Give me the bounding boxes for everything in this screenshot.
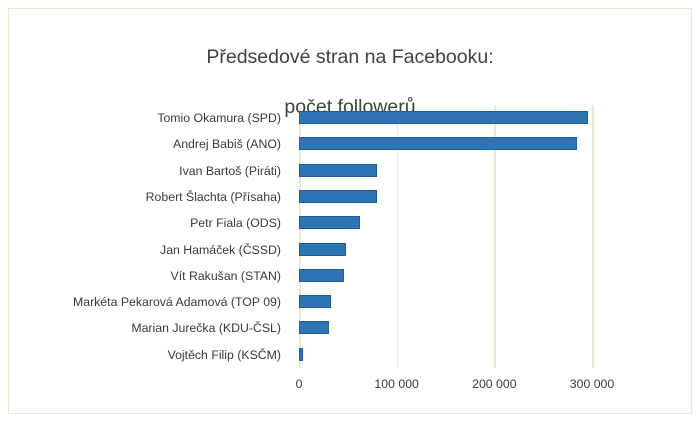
bar-row [299, 210, 592, 236]
x-tick-label: 0 [296, 377, 303, 391]
bar[interactable] [299, 216, 360, 229]
x-tick-label: 200 000 [472, 377, 516, 391]
bar-row [299, 184, 592, 210]
category-label: Marian Jurečka (KDU-ČSL) [0, 315, 290, 341]
chart-title-line-1: Předsedové stran na Facebooku: [206, 46, 493, 68]
bar-row [299, 315, 592, 341]
category-label: Ivan Bartoš (Piráti) [0, 158, 290, 184]
category-label: Vojtěch Filip (KSČM) [0, 342, 290, 368]
category-label: Robert Šlachta (Přísaha) [0, 184, 290, 210]
category-label: Petr Fiala (ODS) [0, 210, 290, 236]
bar[interactable] [299, 164, 377, 177]
gridline [592, 105, 594, 368]
x-tick-label: 100 000 [374, 377, 418, 391]
bar-row [299, 289, 592, 315]
bar-row [299, 237, 592, 263]
bar[interactable] [299, 243, 346, 256]
bar-row [299, 131, 592, 157]
category-label: Tomio Okamura (SPD) [0, 105, 290, 131]
category-label: Jan Hamáček (ČSSD) [0, 237, 290, 263]
bar-row [299, 105, 592, 131]
category-label: Markéta Pekarová Adamová (TOP 09) [0, 289, 290, 315]
bar[interactable] [299, 321, 329, 334]
bar-row [299, 263, 592, 289]
bar[interactable] [299, 295, 331, 308]
x-tick-label: 300 000 [570, 377, 614, 391]
bar[interactable] [299, 348, 303, 361]
bar[interactable] [299, 111, 588, 124]
bar-row [299, 158, 592, 184]
category-label: Vít Rakušan (STAN) [0, 263, 290, 289]
plot-area [299, 105, 592, 368]
category-label: Andrej Babiš (ANO) [0, 131, 290, 157]
bar[interactable] [299, 269, 344, 282]
bar[interactable] [299, 137, 577, 150]
bar-row [299, 342, 592, 368]
bar[interactable] [299, 190, 377, 203]
chart-container: Předsedové stran na Facebooku: počet fol… [0, 0, 700, 422]
